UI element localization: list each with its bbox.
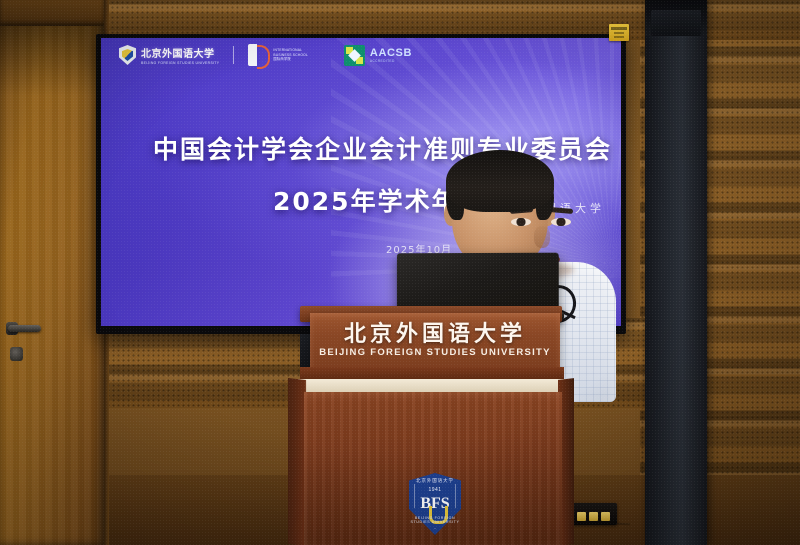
- aacsb-logo: AACSB ACCREDITED: [344, 45, 412, 66]
- dark-column: [645, 0, 707, 545]
- emblem-arc-en: BEIJING FOREIGN STUDIES UNIVERSITY: [409, 516, 461, 524]
- podium-name-cn: 北京外国语大学: [310, 316, 560, 348]
- bfsu-shield-icon: [119, 45, 136, 65]
- podium-dark-band: [300, 367, 564, 379]
- door-top-shadow: [0, 26, 104, 96]
- outlet-socket[interactable]: [577, 512, 586, 521]
- aacsb-mark-icon: [344, 45, 365, 66]
- bfsu-logo-en: BEIJING FOREIGN STUDIES UNIVERSITY: [141, 62, 219, 65]
- bsb-logo-text: INTERNATIONAL BUSINESS SCHOOL 国际商学院: [273, 48, 308, 63]
- emblem-arc-cn: 北京外国语大学: [409, 478, 461, 484]
- door-lock-icon[interactable]: [10, 347, 23, 361]
- bfsu-logo-cn: 北京外国语大学: [141, 49, 215, 60]
- nose: [534, 226, 550, 248]
- logo-divider: [233, 46, 234, 64]
- podium-cream-band: [298, 379, 568, 392]
- conference-hall-photo: 北京外国语大学 BEIJING FOREIGN STUDIES UNIVERSI…: [0, 0, 800, 545]
- wooden-door[interactable]: [0, 0, 104, 545]
- aacsb-logo-text: AACSB ACCREDITED: [370, 48, 412, 63]
- bfsu-logo: 北京外国语大学 BEIJING FOREIGN STUDIES UNIVERSI…: [119, 44, 219, 65]
- aacsb-sub: ACCREDITED: [370, 59, 412, 63]
- door-top-rail: [0, 0, 104, 26]
- podium-name-en: BEIJING FOREIGN STUDIES UNIVERSITY: [310, 347, 560, 358]
- bsb-logo: INTERNATIONAL BUSINESS SCHOOL 国际商学院: [248, 44, 308, 66]
- outlet-socket[interactable]: [589, 512, 598, 521]
- eye-left: [511, 218, 531, 226]
- aacsb-wordmark: AACSB: [370, 48, 412, 59]
- bfsu-logo-text: 北京外国语大学 BEIJING FOREIGN STUDIES UNIVERSI…: [141, 44, 219, 65]
- bezel-sticker-label: [609, 24, 629, 41]
- bsb-line-3: 国际商学院: [273, 57, 308, 62]
- door-handle[interactable]: [8, 325, 41, 332]
- outlet-socket[interactable]: [601, 512, 610, 521]
- bfsu-emblem: 北京外国语大学 1941 BFS BEIJING FOREIGN STUDIES…: [409, 473, 461, 535]
- emblem-year: 1941: [409, 487, 461, 493]
- ceiling-speaker-box: [651, 10, 701, 36]
- screen-logo-bar: 北京外国语大学 BEIJING FOREIGN STUDIES UNIVERSI…: [119, 44, 412, 66]
- hair: [446, 150, 554, 212]
- eye-right: [551, 218, 571, 226]
- bsb-mark-icon: [248, 44, 268, 66]
